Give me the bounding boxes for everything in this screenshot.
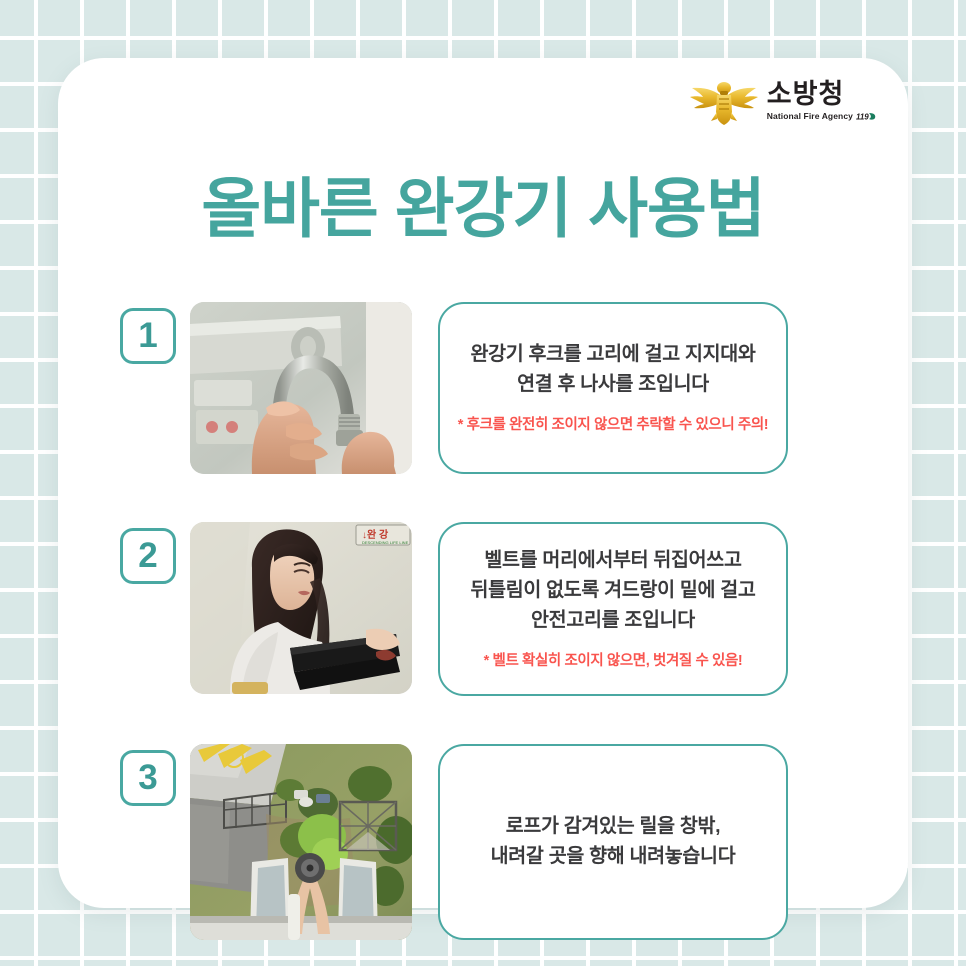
fire-agency-eagle-emblem-icon bbox=[687, 76, 761, 126]
logo-english-name: National Fire Agency bbox=[767, 112, 853, 121]
step-photo-belt: ↓완 강 DESCENDING LIFE LINE bbox=[190, 522, 412, 694]
step-warning-text: * 벨트 확실히 조이지 않으면, 벗겨질 수 있음! bbox=[484, 651, 743, 671]
svg-text:DESCENDING LIFE LINE: DESCENDING LIFE LINE bbox=[362, 540, 409, 545]
step-text: 벨트를 머리에서부터 뒤집어쓰고 뒤틀림이 없도록 겨드랑이 밑에 걸고 안전고… bbox=[470, 546, 755, 635]
step-text: 로프가 감겨있는 릴을 창밖, 내려갈 곳을 향해 내려놓습니다 bbox=[491, 812, 736, 871]
step-text: 완강기 후크를 고리에 걸고 지지대와 연결 후 나사를 조입니다 bbox=[470, 340, 755, 399]
step-item: 3 bbox=[58, 744, 908, 949]
logo-korean-name: 소방청 bbox=[767, 81, 845, 108]
step-photo-hook bbox=[190, 302, 412, 474]
step-textbox: 벨트를 머리에서부터 뒤집어쓰고 뒤틀림이 없도록 겨드랑이 밑에 걸고 안전고… bbox=[438, 522, 788, 696]
step-warning-text: * 후크를 완전히 조이지 않으면 추락할 수 있으니 주의! bbox=[458, 415, 768, 435]
page-title: 올바른 완강기 사용법 bbox=[58, 176, 908, 241]
agency-logo: 소방청 National Fire Agency 119 bbox=[687, 76, 876, 126]
svg-text:119: 119 bbox=[856, 112, 869, 121]
step-textbox: 완강기 후크를 고리에 걸고 지지대와 연결 후 나사를 조입니다 * 후크를 … bbox=[438, 302, 788, 474]
steps-list: 1 bbox=[58, 302, 908, 949]
119-mark-icon: 119 bbox=[856, 112, 876, 121]
step-item: 1 bbox=[58, 302, 908, 522]
step-number-badge: 2 bbox=[120, 528, 176, 584]
step-textbox: 로프가 감겨있는 릴을 창밖, 내려갈 곳을 향해 내려놓습니다 bbox=[438, 744, 788, 940]
step-photo-courtyard bbox=[190, 744, 412, 940]
poster-background: 소방청 National Fire Agency 119 올바른 완강기 사용법 bbox=[0, 0, 966, 966]
step-number-badge: 1 bbox=[120, 308, 176, 364]
content-card: 소방청 National Fire Agency 119 올바른 완강기 사용법 bbox=[58, 58, 908, 908]
logo-wordmark: 소방청 National Fire Agency 119 bbox=[767, 81, 876, 121]
step-number-badge: 3 bbox=[120, 750, 176, 806]
step-item: 2 bbox=[58, 522, 908, 744]
